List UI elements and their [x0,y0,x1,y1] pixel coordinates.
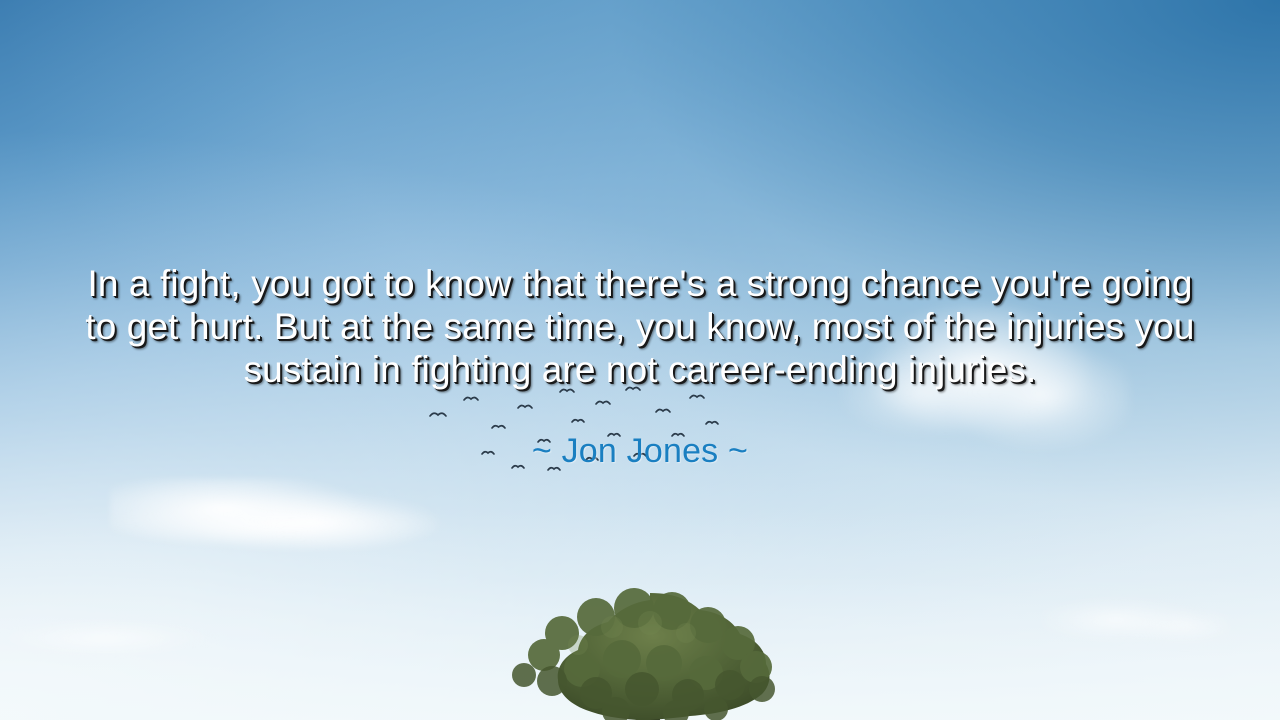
horizon-haze [0,510,1280,720]
quote-text: In a fight, you got to know that there's… [75,262,1205,391]
quote-block: In a fight, you got to know that there's… [75,262,1205,471]
quote-image: In a fight, you got to know that there's… [0,0,1280,720]
quote-attribution: ~ Jon Jones ~ [75,391,1205,471]
